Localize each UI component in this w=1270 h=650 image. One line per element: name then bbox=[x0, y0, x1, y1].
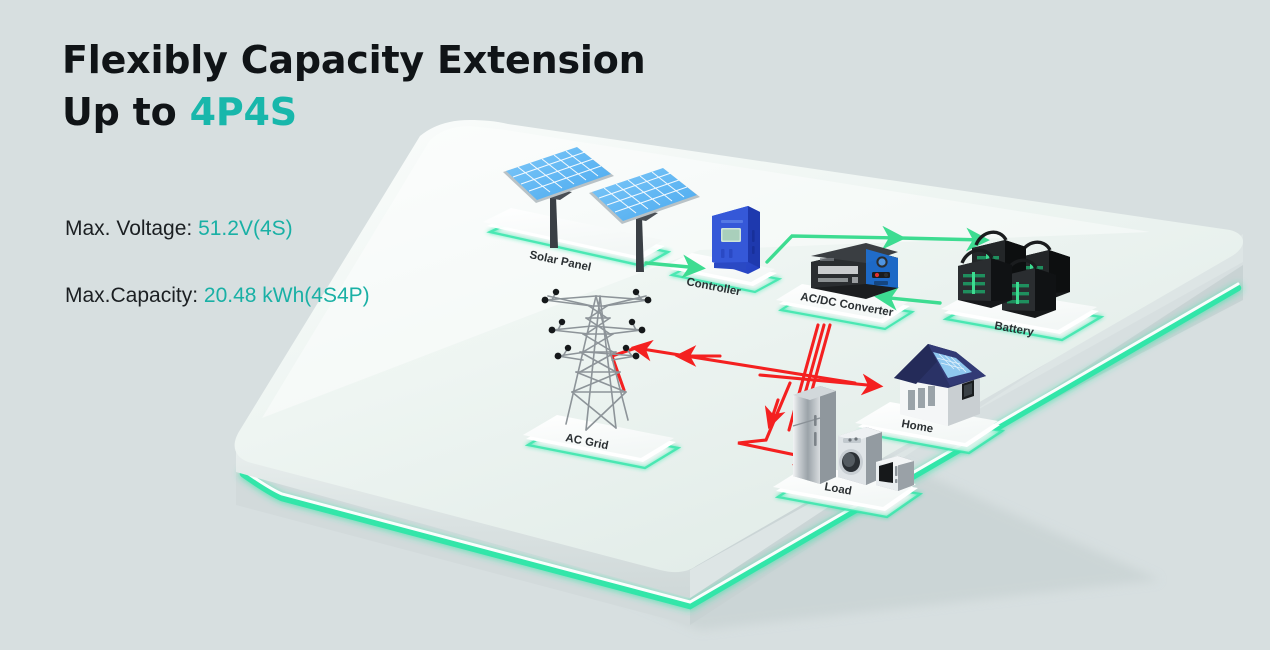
headline-accent: 4P4S bbox=[190, 90, 297, 134]
poster-canvas: Solar Panel Controller AC/DC Converter B… bbox=[0, 0, 1270, 650]
spec-max-voltage: Max. Voltage: 51.2V(4S) bbox=[65, 217, 293, 241]
spec-max-voltage-label: Max. Voltage: bbox=[65, 217, 198, 240]
spec-max-capacity-value: 20.48 kWh(4S4P) bbox=[204, 284, 370, 307]
spec-max-capacity: Max.Capacity: 20.48 kWh(4S4P) bbox=[65, 284, 370, 308]
headline-line-2: Up to 4P4S bbox=[62, 86, 702, 138]
platform-slab bbox=[235, 120, 1243, 630]
spec-max-voltage-value: 51.2V(4S) bbox=[198, 217, 293, 240]
headline-line-2-prefix: Up to bbox=[62, 90, 190, 134]
spec-max-capacity-label: Max.Capacity: bbox=[65, 284, 204, 307]
dc-converter-to-battery bbox=[900, 238, 984, 240]
headline-block: Flexibly Capacity Extension Up to 4P4S M… bbox=[62, 34, 702, 138]
headline-line-1: Flexibly Capacity Extension bbox=[62, 34, 702, 86]
charge-controller-icon bbox=[712, 206, 760, 274]
